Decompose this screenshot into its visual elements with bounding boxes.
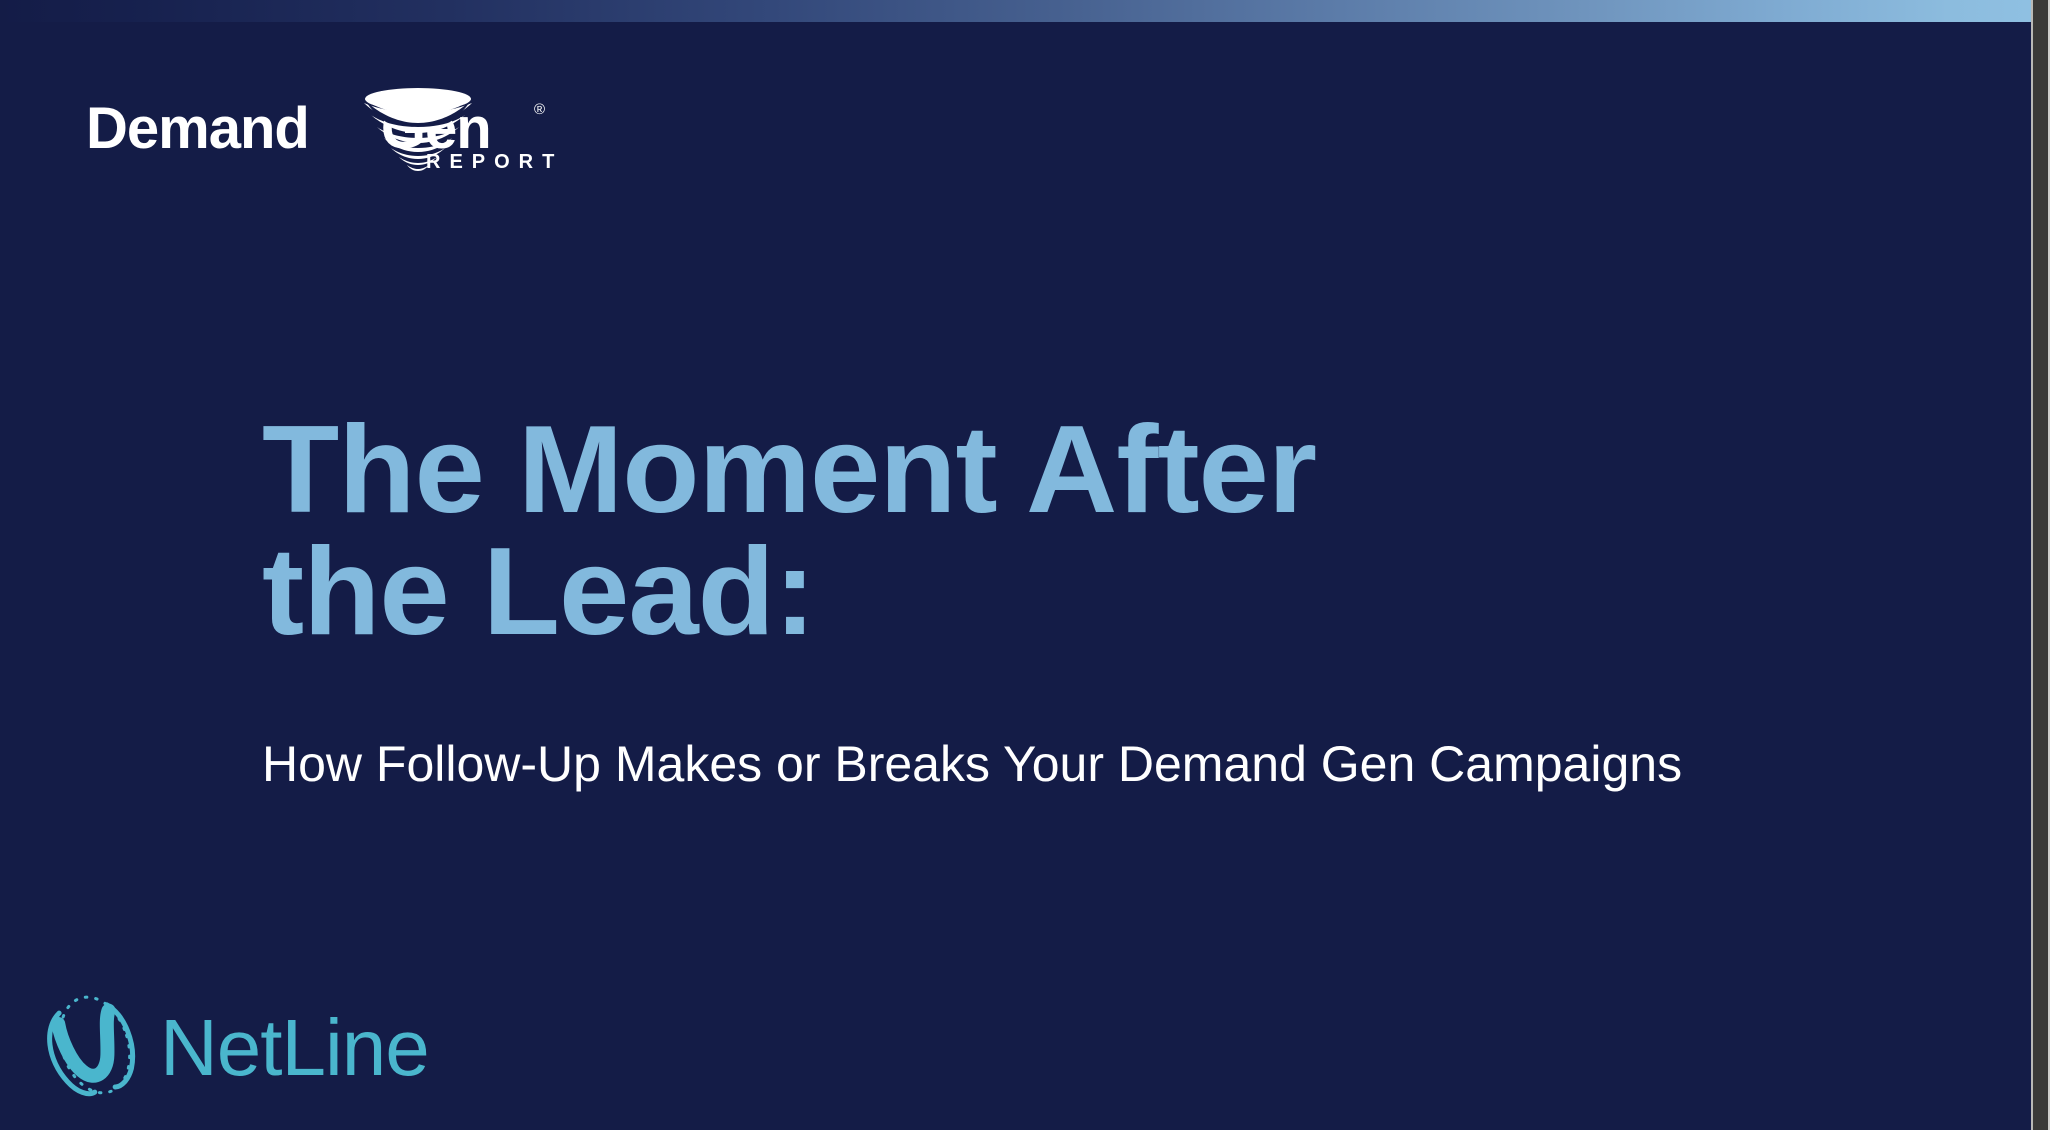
slide-canvas: DemandGen ® REPORT The Moment Afte	[0, 0, 2031, 1130]
tornado-funnel-icon	[358, 83, 478, 175]
title-line-1: The Moment After	[262, 410, 1690, 532]
page-subtitle: How Follow-Up Makes or Breaks Your Deman…	[262, 735, 1682, 793]
presentation-viewer: DemandGen ® REPORT The Moment Afte	[0, 0, 2050, 1130]
demandgen-word-demand: Demand	[86, 95, 309, 162]
demandgen-report-logo: DemandGen ® REPORT	[86, 95, 566, 175]
title-line-2: the Lead:	[262, 532, 1690, 654]
registered-trademark-mark: ®	[534, 101, 545, 118]
viewer-right-edge	[2031, 0, 2050, 1130]
top-accent-gradient-bar	[0, 0, 2031, 22]
page-title: The Moment After the Lead:	[262, 410, 1662, 653]
netline-logo: NetLine	[40, 990, 460, 1100]
edge-hairline-left	[2031, 0, 2033, 1130]
netline-wordmark: NetLine	[160, 1002, 429, 1094]
netline-orbit-n-icon	[40, 990, 150, 1100]
